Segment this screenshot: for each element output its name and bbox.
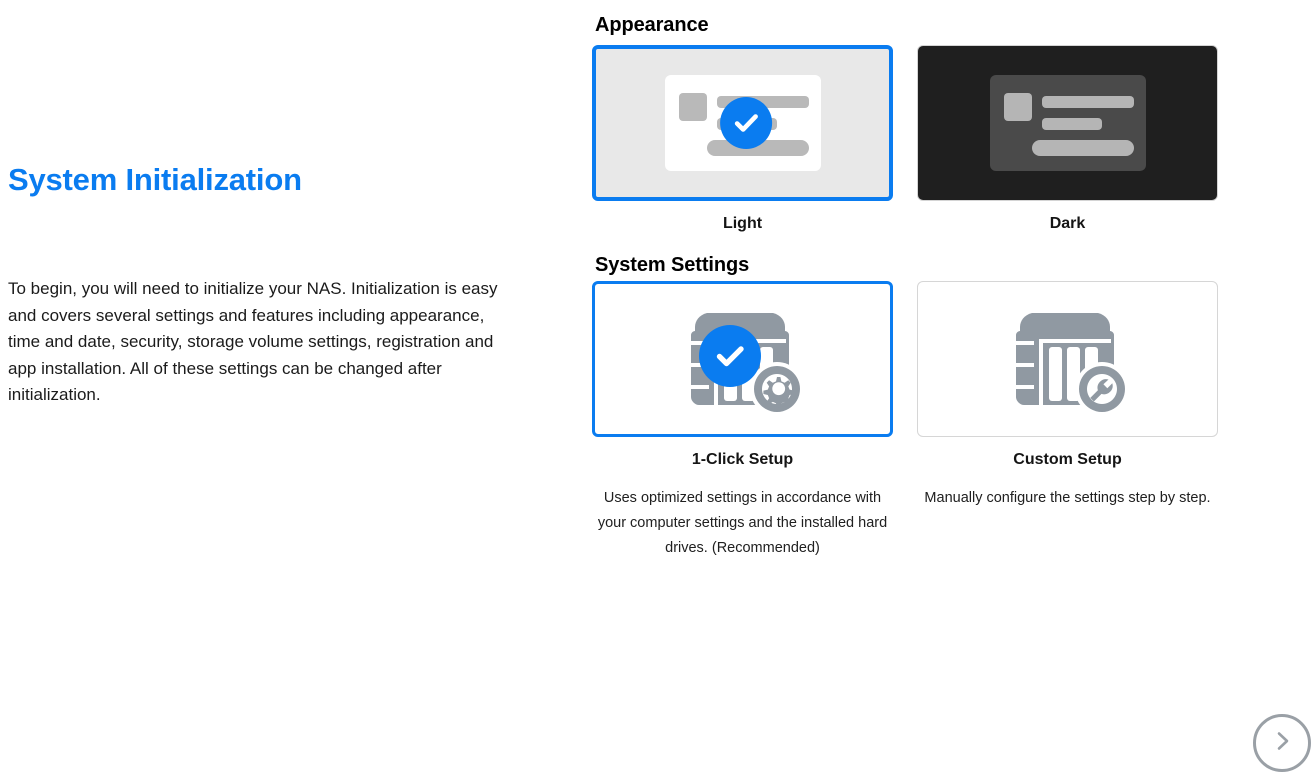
- appearance-option-dark[interactable]: Dark: [917, 45, 1218, 233]
- custom-setup-card[interactable]: [917, 281, 1218, 437]
- setup-option-custom[interactable]: Custom Setup Manually configure the sett…: [917, 281, 1218, 561]
- one-click-setup-card[interactable]: [592, 281, 893, 437]
- dark-theme-label: Dark: [1050, 215, 1086, 233]
- light-theme-card[interactable]: [592, 45, 893, 201]
- preview-thumbnail-block: [1004, 93, 1032, 121]
- preview-text-line-1: [1042, 96, 1134, 108]
- page-title: System Initialization: [8, 160, 508, 200]
- preview-thumbnail-block: [679, 93, 707, 121]
- appearance-options: Light Dark: [592, 45, 1218, 233]
- dark-theme-preview-icon: [990, 75, 1146, 171]
- appearance-heading: Appearance: [595, 13, 709, 37]
- preview-text-line-3: [1032, 140, 1134, 156]
- one-click-setup-label: 1-Click Setup: [692, 451, 793, 469]
- dark-theme-card[interactable]: [917, 45, 1218, 201]
- nas-wrench-icon: [1002, 297, 1134, 421]
- intro-description: To begin, you will need to initialize yo…: [8, 276, 498, 409]
- appearance-option-light[interactable]: Light: [592, 45, 893, 233]
- setup-option-one-click[interactable]: 1-Click Setup Uses optimized settings in…: [592, 281, 893, 561]
- next-button[interactable]: [1253, 714, 1311, 772]
- custom-setup-label: Custom Setup: [1013, 451, 1121, 469]
- intro-panel: System Initialization To begin, you will…: [8, 160, 508, 200]
- custom-setup-description: Manually configure the settings step by …: [923, 486, 1213, 511]
- system-settings-heading: System Settings: [595, 253, 749, 277]
- light-theme-preview-icon: [665, 75, 821, 171]
- light-theme-label: Light: [723, 215, 762, 233]
- chevron-right-icon: [1270, 729, 1294, 758]
- selected-check-icon: [699, 325, 761, 387]
- preview-text-line-2: [1042, 118, 1102, 130]
- nas-gear-check-icon: [677, 297, 809, 421]
- one-click-setup-description: Uses optimized settings in accordance wi…: [598, 486, 888, 561]
- system-settings-options: 1-Click Setup Uses optimized settings in…: [592, 281, 1218, 561]
- selected-check-icon: [720, 97, 772, 149]
